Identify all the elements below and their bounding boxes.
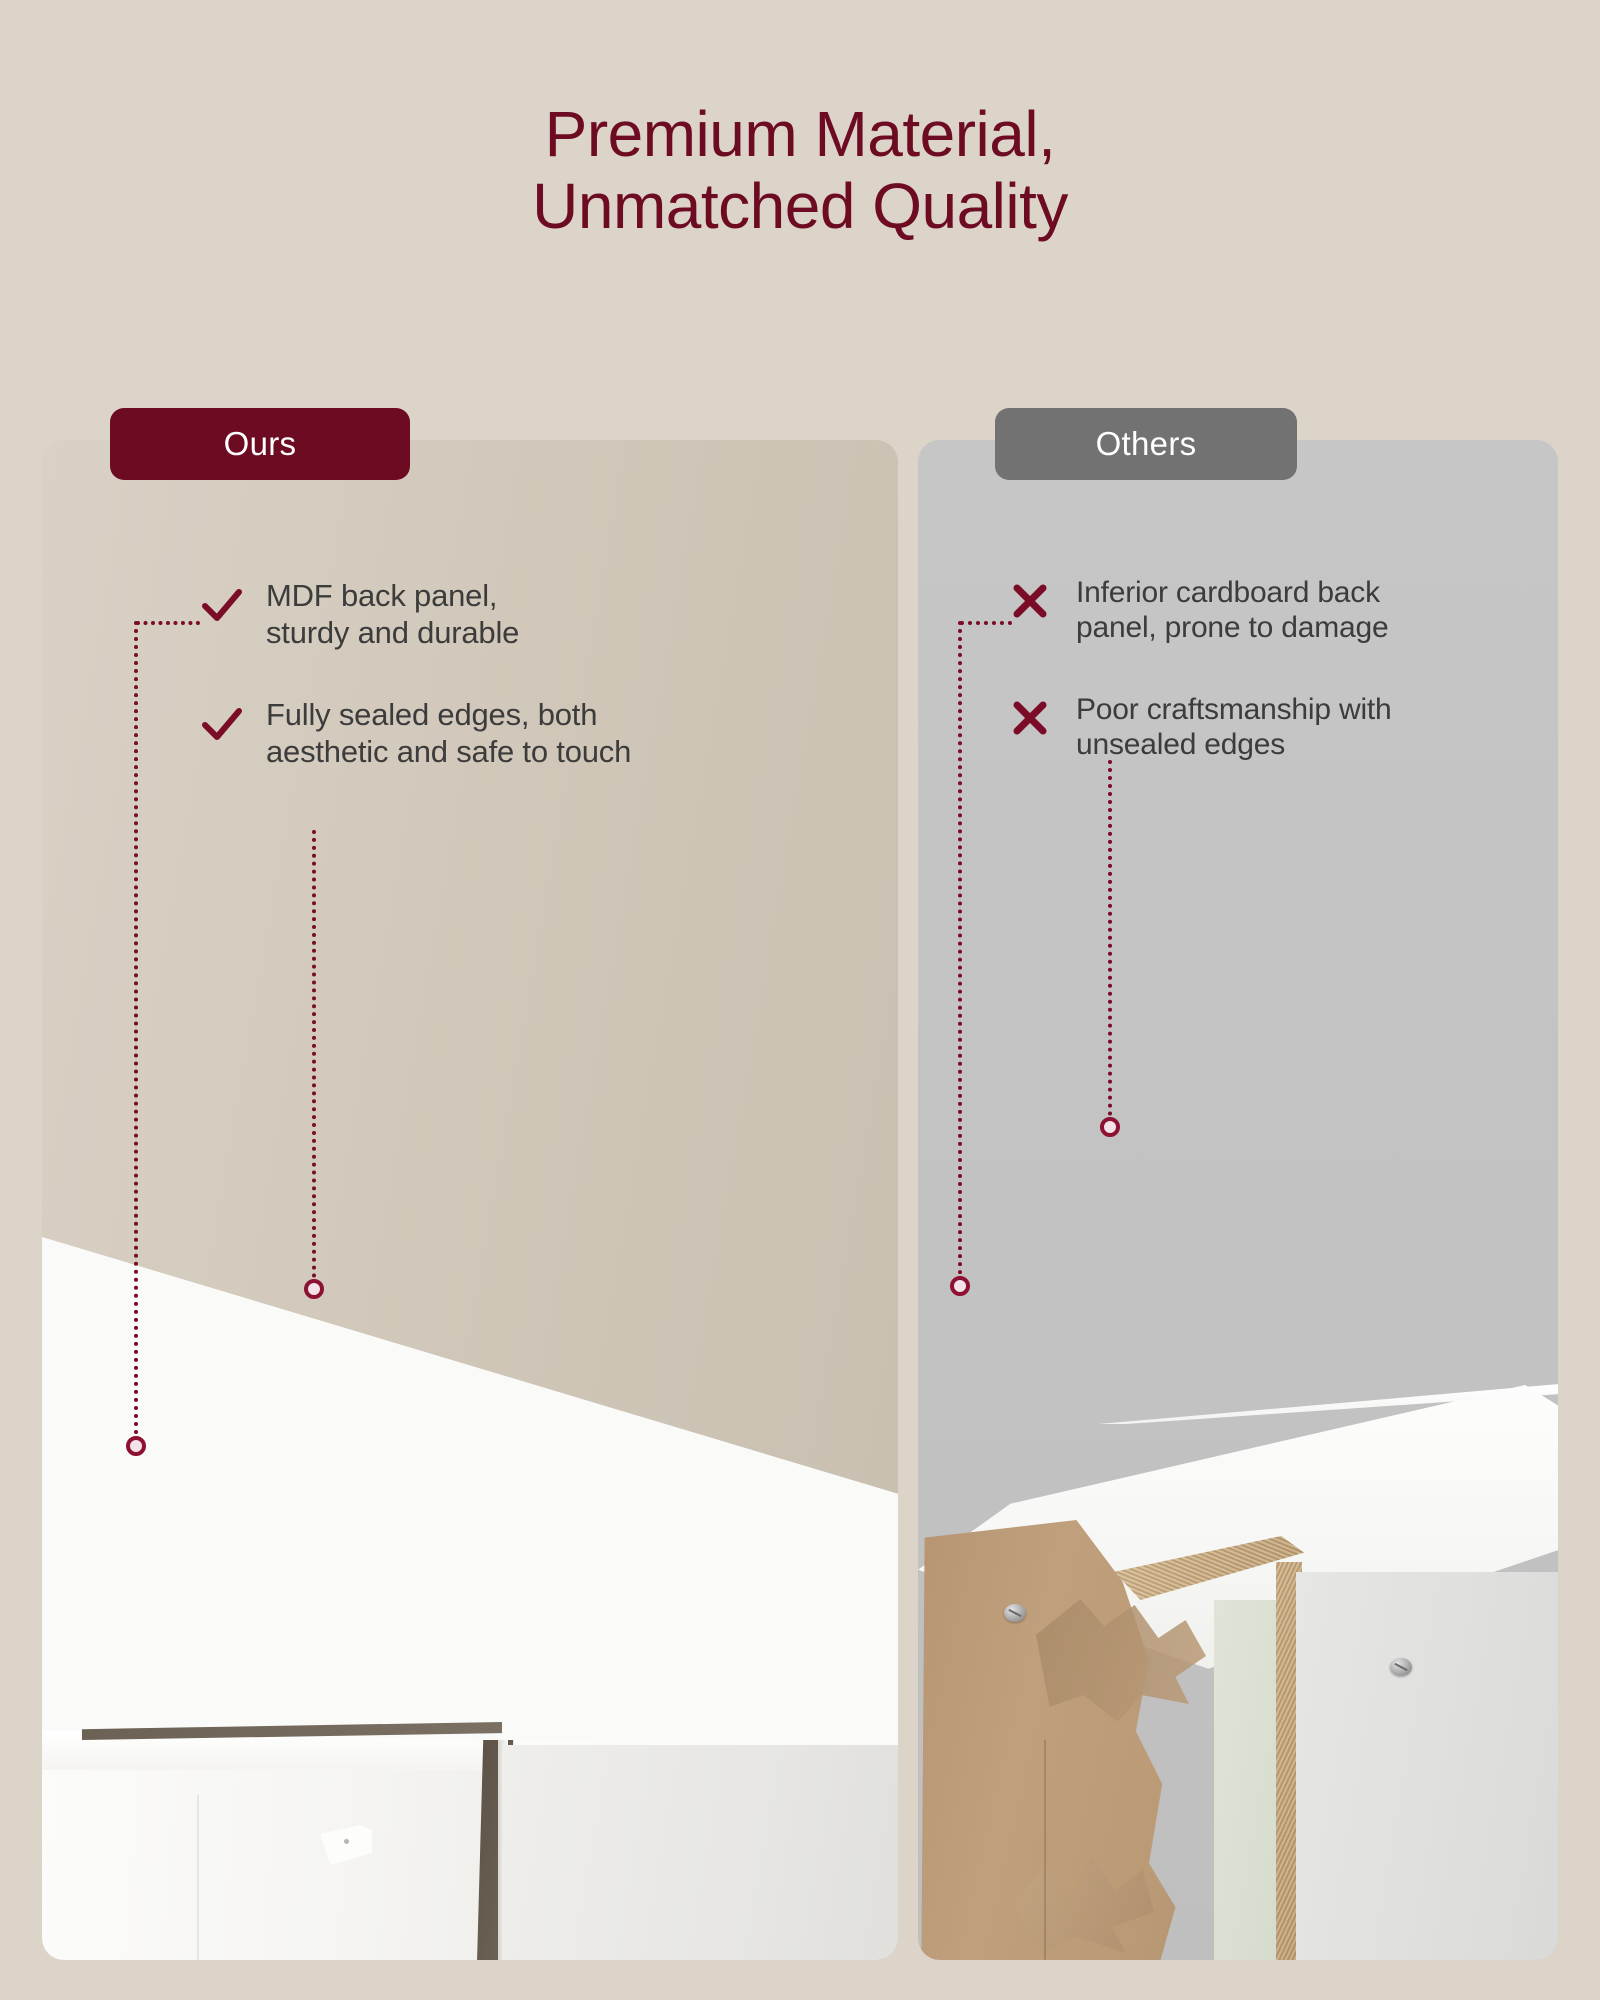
list-item: Fully sealed edges, both aesthetic and s… (200, 697, 840, 770)
check-icon (200, 703, 244, 747)
list-item: Poor craftsmanship with unsealed edges (1010, 692, 1510, 763)
cross-icon (1010, 581, 1054, 625)
feature-text-line-1: MDF back panel, (266, 578, 497, 613)
leader-endpoint (126, 1436, 146, 1456)
leader-endpoint (950, 1276, 970, 1296)
comparison-infographic: Premium Material, Unmatched Quality (0, 0, 1600, 2000)
screw-side-panel (1390, 1658, 1412, 1676)
badge-others[interactable]: Others (995, 408, 1297, 480)
drawback-text: Poor craftsmanship with unsealed edges (1076, 692, 1392, 763)
cabinet-back-panel (42, 1770, 502, 1960)
badge-ours[interactable]: Ours (110, 408, 410, 480)
drawback-text: Inferior cardboard back panel, prone to … (1076, 575, 1389, 646)
feature-text-line-2: sturdy and durable (266, 615, 519, 650)
page-title: Premium Material, Unmatched Quality (0, 98, 1600, 243)
leader-stem (134, 621, 138, 1443)
leader-endpoint (1100, 1117, 1120, 1137)
check-icon (200, 584, 244, 628)
leader-stem (312, 830, 316, 1286)
panel-seam (197, 1795, 199, 1960)
cardboard-crease-1 (1044, 1740, 1046, 1960)
list-item: Inferior cardboard back panel, prone to … (1010, 575, 1510, 646)
screw-cardboard (1004, 1604, 1026, 1622)
feature-text: Fully sealed edges, both aesthetic and s… (266, 697, 631, 770)
cabinet-side-panel (502, 1745, 898, 1960)
page-title-line-2: Unmatched Quality (0, 170, 1600, 242)
drawback-text-line-1: Poor craftsmanship with (1076, 693, 1392, 726)
leader-elbow (136, 621, 200, 625)
bracket-screw-upper (344, 1839, 349, 1844)
leader-stem (958, 621, 962, 1283)
badge-ours-label: Ours (224, 425, 297, 463)
drawback-text-line-2: panel, prone to damage (1076, 611, 1389, 644)
list-item: MDF back panel, sturdy and durable (200, 578, 840, 651)
feature-text: MDF back panel, sturdy and durable (266, 578, 519, 651)
ours-feature-list: MDF back panel, sturdy and durable Fully… (200, 578, 840, 816)
drawback-text-line-1: Inferior cardboard back (1076, 576, 1380, 609)
page-title-line-1: Premium Material, (0, 98, 1600, 170)
feature-text-line-1: Fully sealed edges, both (266, 697, 597, 732)
feature-text-line-2: aesthetic and safe to touch (266, 734, 631, 769)
cabinet-side-panel-right (1296, 1572, 1558, 1960)
badge-others-label: Others (1096, 425, 1197, 463)
cross-icon (1010, 698, 1054, 742)
leader-elbow (960, 621, 1012, 625)
others-feature-list: Inferior cardboard back panel, prone to … (1010, 575, 1510, 809)
leader-stem (1108, 760, 1112, 1124)
drawback-text-line-2: unsealed edges (1076, 728, 1285, 761)
leader-endpoint (304, 1279, 324, 1299)
